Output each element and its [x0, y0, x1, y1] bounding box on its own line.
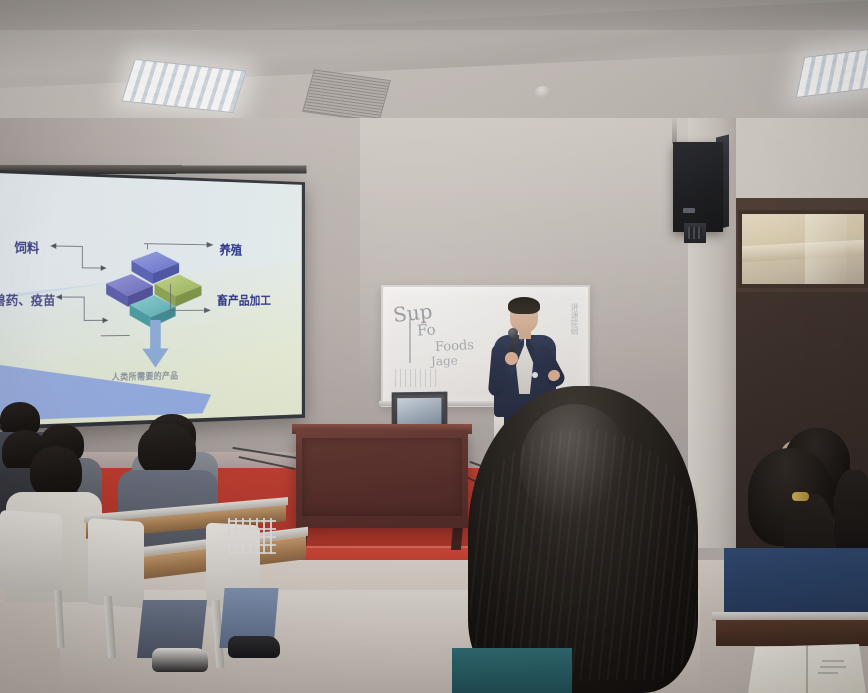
student-shoe-left-2 [228, 636, 280, 658]
whiteboard-ink-line-3: Foods [435, 338, 475, 355]
notebook-gutter [806, 645, 808, 693]
monitor-screen [397, 398, 441, 426]
projection-screen: 饲料 兽药、疫苗 养殖 畜产品加工 人类所需要的产品 [0, 170, 305, 430]
notebook-text-line-2 [820, 666, 846, 668]
slide-label-feed: 饲料 [14, 237, 39, 256]
chair-back-left-2[interactable] [88, 518, 144, 608]
whiteboard-ink-line-4: Jage [431, 354, 458, 369]
presenter-badge [532, 372, 538, 378]
slide-label-veterinary: 兽药、疫苗 [0, 290, 55, 309]
audio-speaker-bracket [684, 223, 706, 243]
student-hair-highlight [520, 404, 630, 524]
projected-slide: 饲料 兽药、疫苗 养殖 畜产品加工 人类所需要的产品 [0, 173, 302, 426]
lecture-hall-photo: 饲料 兽药、疫苗 养殖 畜产品加工 人类所需要的产品 Sup Fo Foods … [0, 0, 868, 693]
microphone-head [508, 328, 518, 338]
presenter-hair [508, 297, 540, 314]
lectern [296, 430, 468, 528]
student-head-grey-shirt [138, 424, 196, 476]
student-collar-foreground [452, 648, 572, 693]
slide-label-breeding: 养殖 [219, 239, 242, 258]
hair-tie [792, 492, 809, 501]
desk-storage-basket [228, 518, 276, 554]
slide-label-output: 人类所需要的产品 [112, 369, 179, 383]
slide-label-processing: 畜产品加工 [217, 291, 271, 309]
notebook-text-line-3 [818, 672, 838, 674]
whiteboard-ink-stroke [409, 319, 411, 363]
audio-speaker-badge [683, 208, 695, 213]
student-shoe-left [152, 648, 208, 672]
ceiling-dome-fixture [535, 86, 551, 99]
whiteboard-side-note: 讲课提纲 [571, 303, 580, 335]
slide-down-arrow [140, 320, 170, 370]
whiteboard-ink-hatching [395, 369, 439, 387]
student-head-cream-jacket [30, 446, 82, 498]
door-window [738, 210, 868, 288]
notebook-text-line-1 [822, 660, 844, 662]
audio-speaker [673, 142, 723, 232]
chair-back-left-1[interactable] [0, 510, 62, 592]
lecture-desk-right [716, 620, 868, 646]
door-window-light-beam [805, 214, 846, 284]
presenter-hand-left [505, 352, 518, 365]
speaker-mount-arm [672, 118, 677, 144]
whiteboard-ink-line-2: Fo [416, 320, 436, 339]
lectern-front-panel [302, 438, 462, 516]
